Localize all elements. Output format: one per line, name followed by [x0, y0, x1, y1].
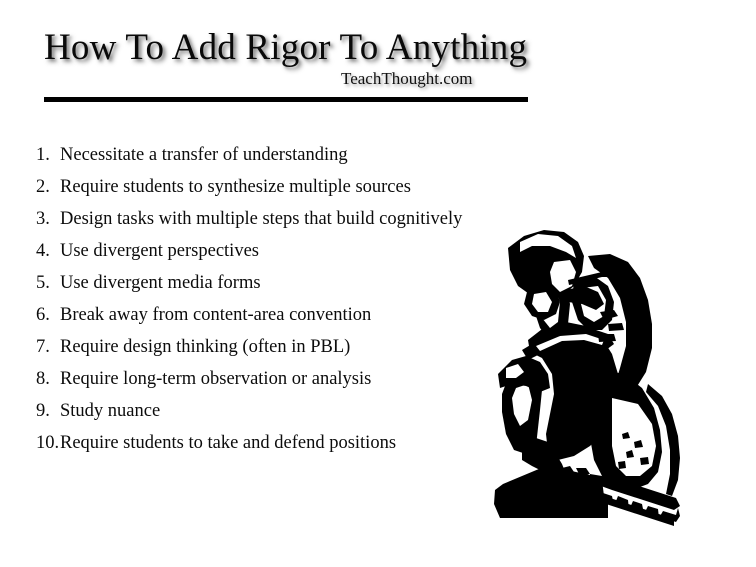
list-item: 5.Use divergent media forms [36, 267, 506, 299]
list-item: 4.Use divergent perspectives [36, 235, 506, 267]
list-item-label: Require design thinking (often in PBL) [60, 331, 350, 363]
list-item-label: Require students to synthesize multiple … [60, 171, 411, 203]
list-item: 8.Require long-term observation or analy… [36, 363, 506, 395]
site-attribution: TeachThought.com [341, 69, 472, 89]
list-item: 9.Study nuance [36, 395, 506, 427]
list-item-number: 9. [36, 395, 60, 427]
list-item: 10.Require students to take and defend p… [36, 427, 506, 459]
list-item-label: Design tasks with multiple steps that bu… [60, 203, 462, 235]
list-item-label: Use divergent perspectives [60, 235, 259, 267]
list-item-number: 1. [36, 139, 60, 171]
the-thinker-icon [462, 228, 712, 528]
list-item-label: Require students to take and defend posi… [60, 427, 396, 459]
poster-canvas: How To Add Rigor To Anything TeachThough… [0, 0, 756, 567]
list-item-label: Necessitate a transfer of understanding [60, 139, 348, 171]
list-item-label: Break away from content-area convention [60, 299, 371, 331]
list-item-number: 8. [36, 363, 60, 395]
list-item-number: 7. [36, 331, 60, 363]
list-item: 2.Require students to synthesize multipl… [36, 171, 506, 203]
list-item-label: Study nuance [60, 395, 160, 427]
list-item-number: 6. [36, 299, 60, 331]
list-item-number: 4. [36, 235, 60, 267]
list-item-number: 10. [36, 427, 60, 459]
list-item-number: 2. [36, 171, 60, 203]
list-item: 1.Necessitate a transfer of understandin… [36, 139, 506, 171]
list-item-number: 3. [36, 203, 60, 235]
list-item-number: 5. [36, 267, 60, 299]
header-divider-rule [44, 97, 528, 102]
list-item-label: Require long-term observation or analysi… [60, 363, 371, 395]
list-item: 7.Require design thinking (often in PBL) [36, 331, 506, 363]
rigor-strategy-list: 1.Necessitate a transfer of understandin… [36, 139, 506, 459]
list-item: 3.Design tasks with multiple steps that … [36, 203, 506, 235]
page-title: How To Add Rigor To Anything [44, 26, 527, 70]
list-item: 6.Break away from content-area conventio… [36, 299, 506, 331]
the-thinker-statue-illustration [462, 228, 712, 528]
list-item-label: Use divergent media forms [60, 267, 261, 299]
